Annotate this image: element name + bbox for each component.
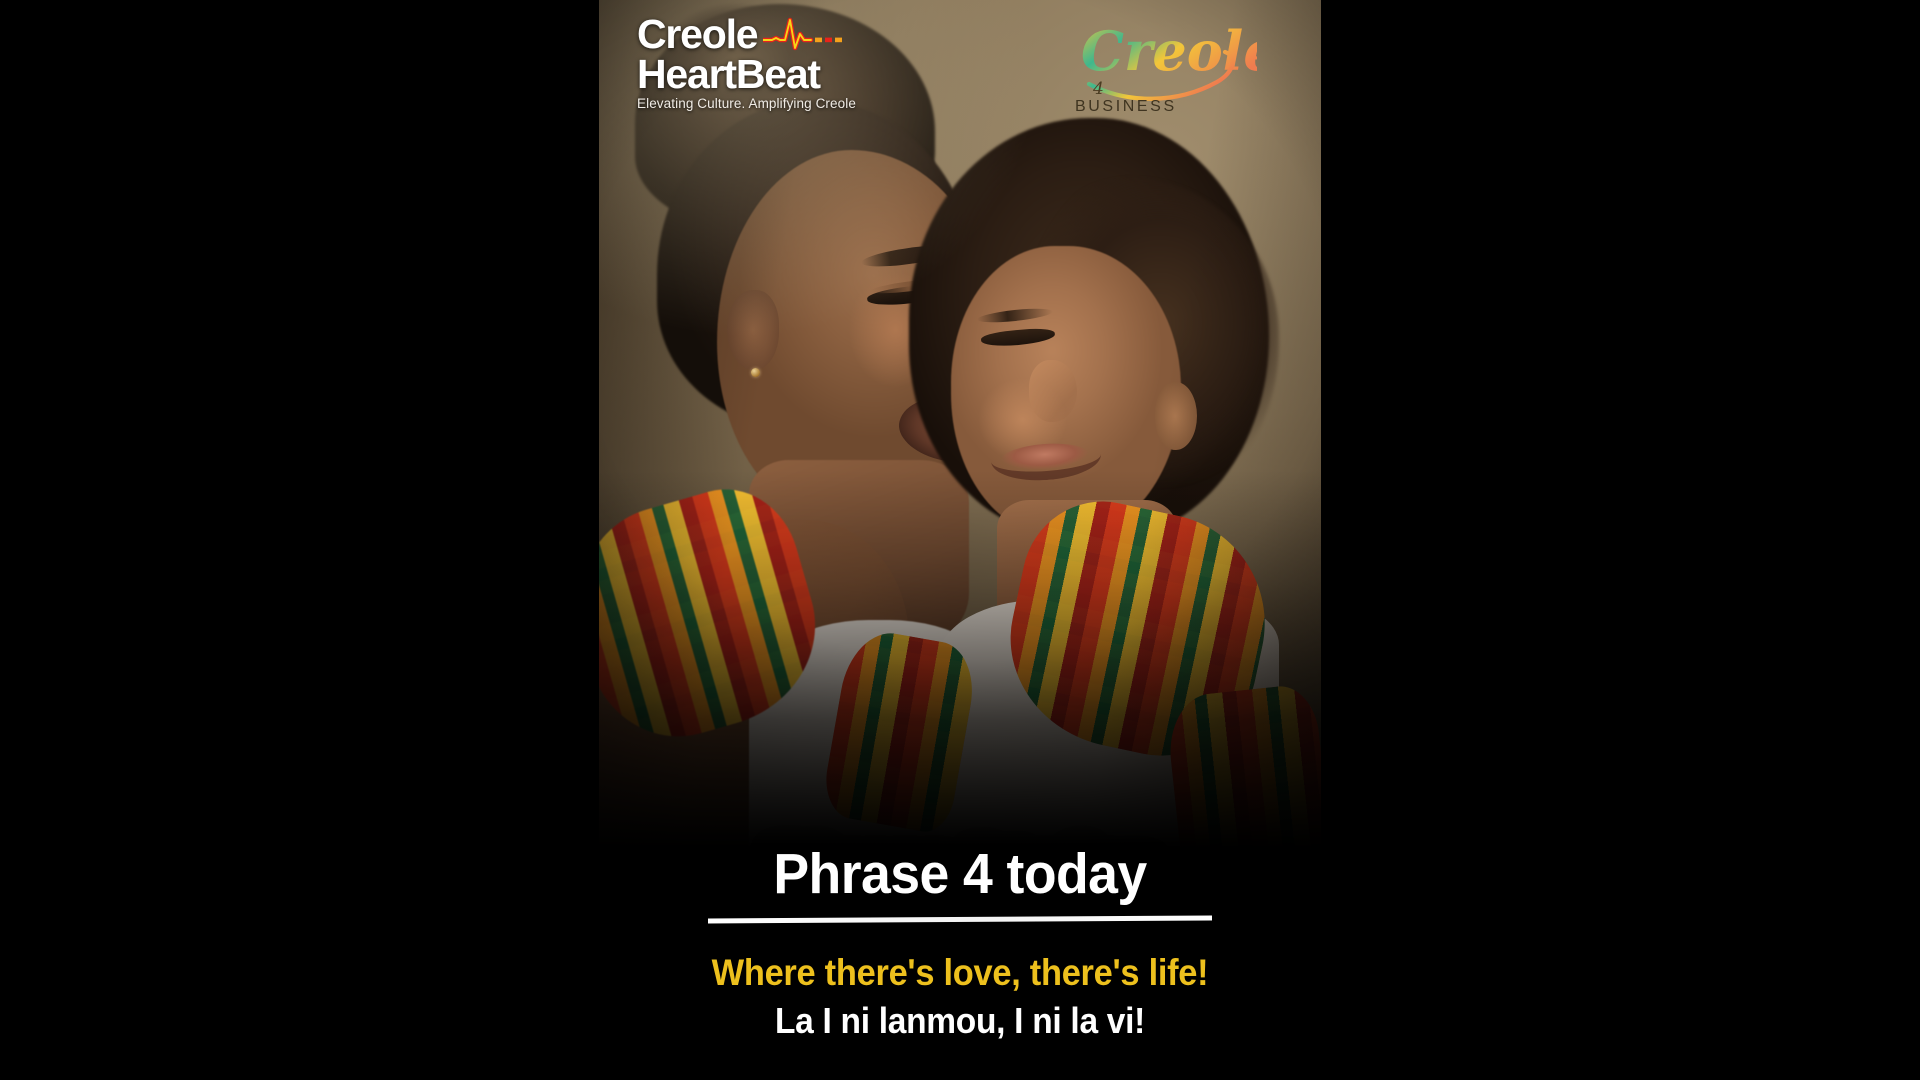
phrase-title: Phrase 4 today xyxy=(621,844,1300,904)
phrase-creole: La I ni lanmou, I ni la vi! xyxy=(624,1000,1295,1042)
photo-bottom-fade xyxy=(599,470,1321,900)
logo-bar: Creole HeartBeat Elevating Culture. Ampl… xyxy=(599,0,1321,130)
creole-heartbeat-tagline: Elevating Culture. Amplifying Creole xyxy=(637,96,937,111)
social-post-panel: Creole HeartBeat Elevating Culture. Ampl… xyxy=(599,0,1321,1080)
c4b-word: BUSINESS xyxy=(1075,98,1177,115)
caption-block: Phrase 4 today Where there's love, there… xyxy=(599,844,1321,1080)
c4b-script-text: Creole xyxy=(1081,19,1257,83)
screenshot-canvas: Creole HeartBeat Elevating Culture. Ampl… xyxy=(0,0,1920,1080)
phrase-english: Where there's love, there's life! xyxy=(624,951,1295,995)
title-divider xyxy=(708,916,1212,924)
heartbeat-pulse-icon xyxy=(763,14,849,54)
creole-heartbeat-line2: HeartBeat xyxy=(637,54,937,94)
creole-heartbeat-line1-row: Creole xyxy=(637,14,937,54)
creole-4-business-mark: Creole 4 BUSINESS xyxy=(1067,8,1257,118)
hero-photo xyxy=(599,0,1321,900)
c4b-numeral: 4 xyxy=(1092,79,1104,99)
creole-4-business-logo[interactable]: Creole 4 BUSINESS xyxy=(1067,8,1257,118)
creole-heartbeat-logo[interactable]: Creole HeartBeat Elevating Culture. Ampl… xyxy=(637,14,937,111)
creole-heartbeat-line1: Creole xyxy=(637,14,757,54)
